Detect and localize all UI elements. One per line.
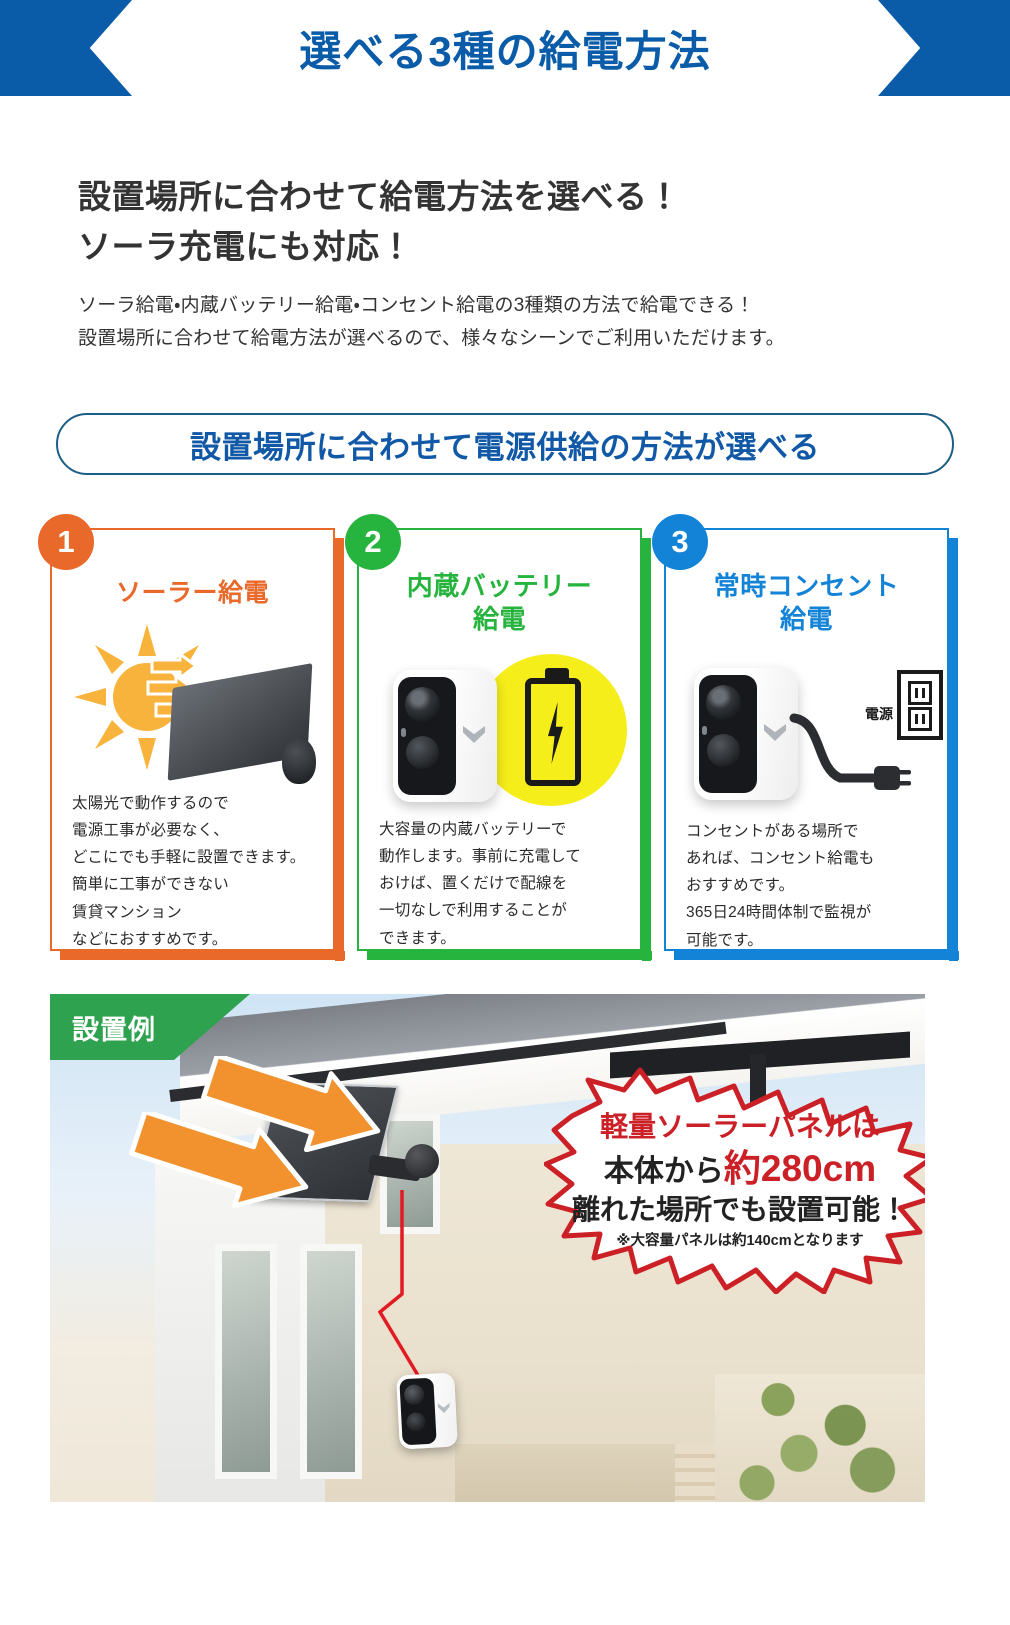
card-edge-right (949, 538, 958, 961)
pointer-arrow-icon (128, 1112, 318, 1208)
callout-note: ※大容量パネルは約140cmとなります (616, 1232, 863, 1251)
section-banner-label: 設置場所に合わせて電源供給の方法が選べる (190, 422, 820, 467)
callout-line3: 離れた場所でも設置可能！ (572, 1192, 908, 1228)
card-body-text: 太陽光で動作するので電源工事が必要なく、どこにでも手軽に設置できます。簡単に工事… (72, 790, 323, 953)
camera-battery-illustration (357, 658, 642, 818)
page-header: 選べる3種の給電方法 (0, 0, 1010, 96)
callout-line2-prefix: 本体から (604, 1155, 724, 1188)
card-edge-bottom (367, 951, 652, 960)
tree (715, 1374, 925, 1502)
lead-heading-line2: ソーラ充電にも対応！ (78, 222, 938, 272)
card-solar-power[interactable]: 1 ソーラー給電 (50, 528, 335, 951)
card-title: 常時コンセント給電 (664, 570, 949, 635)
section-banner: 設置場所に合わせて電源供給の方法が選べる (56, 413, 954, 475)
card-builtin-battery-power[interactable]: 2 内蔵バッテリー給電 大容量の内蔵バッテ (357, 528, 642, 951)
callout-line2: 本体から約280cm (604, 1145, 876, 1192)
card-title: ソーラー給電 (50, 578, 335, 609)
battery-icon (525, 678, 581, 786)
window (215, 1244, 277, 1479)
lead-heading-line1: 設置場所に合わせて給電方法を選べる！ (78, 172, 938, 222)
window (300, 1244, 362, 1479)
card-edge-right (642, 538, 651, 961)
card-body-text: コンセントがある場所であれば、コンセント給電もおすすめです。365日24時間体制… (686, 818, 937, 954)
card-number-badge: 2 (345, 514, 401, 570)
solar-panel-illustration (50, 618, 335, 793)
security-camera-icon (393, 670, 497, 802)
wall-outlet-icon (897, 670, 943, 740)
page-title: 選べる3種の給電方法 (0, 0, 1010, 96)
installation-example-photo: 軽量ソーラーパネルは 本体から約280cm 離れた場所でも設置可能！ ※大容量パ… (50, 994, 925, 1502)
callout-line1: 軽量ソーラーパネルは (600, 1109, 880, 1145)
ribbon-label: 設置例 (72, 1008, 156, 1047)
card-edge-right (335, 538, 344, 961)
card-number-badge: 3 (652, 514, 708, 570)
lead-body-line1: ソーラ給電・内蔵バッテリー給電・コンセント給電の3種類の方法で給電できる！ (78, 295, 755, 316)
card-title: 内蔵バッテリー給電 (357, 570, 642, 635)
outlet-label: 電源 (865, 704, 893, 724)
card-outlet-power[interactable]: 3 常時コンセント給電 (664, 528, 949, 951)
camera-outlet-illustration: 電源 (664, 660, 949, 818)
product-feature-page: 選べる3種の給電方法 設置場所に合わせて給電方法を選べる！ ソーラ充電にも対応！… (0, 0, 1010, 1625)
callout-distance-value: 約280cm (724, 1148, 876, 1189)
card-body-text: 大容量の内蔵バッテリーで動作します。事前に充電しておけば、置くだけで配線を一切な… (379, 816, 630, 952)
card-number-badge: 1 (38, 514, 94, 570)
installed-security-camera (396, 1373, 458, 1450)
callout-starburst: 軽量ソーラーパネルは 本体から約280cm 離れた場所でも設置可能！ ※大容量パ… (544, 1066, 925, 1294)
lead-body-line2: 設置場所に合わせて給電方法が選べるので、様々なシーンでご利用いただけます。 (78, 328, 785, 349)
lead-section: 設置場所に合わせて給電方法を選べる！ ソーラ充電にも対応！ ソーラ給電・内蔵バッ… (78, 172, 938, 356)
power-method-cards: 1 ソーラー給電 (50, 516, 965, 951)
solar-panel-icon (170, 676, 310, 768)
